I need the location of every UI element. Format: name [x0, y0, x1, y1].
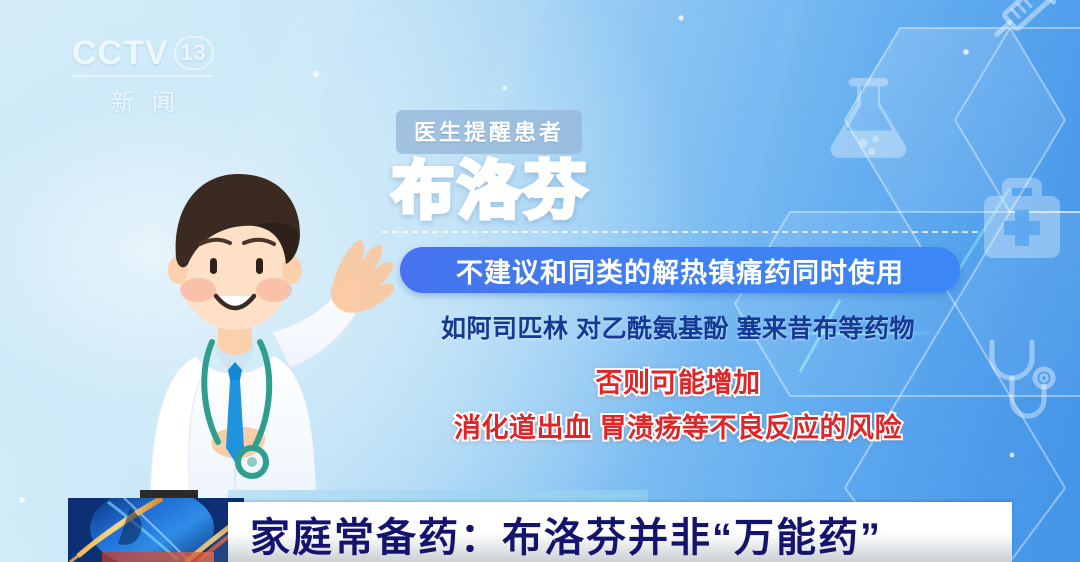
advice-banner-text: 不建议和同类的解热镇痛药同时使用: [456, 251, 904, 290]
logo-rule: [72, 75, 214, 77]
warning-line-2: 消化道出血 胃溃疡等不良反应的风险: [378, 406, 978, 445]
lower-third-title: 家庭常备药：布洛芬并非“万能药”: [250, 505, 882, 562]
broadcast-frame: CCTV 13 新闻: [0, 0, 1080, 562]
lower-third: 家庭常备药：布洛芬并非“万能药”: [0, 490, 1080, 562]
doctor-reminder-tag: 医生提醒患者: [396, 110, 582, 154]
logo-subtitle: 新闻: [72, 83, 232, 117]
stethoscope-icon: [992, 342, 1053, 416]
channel-logo: CCTV 13 新闻: [72, 36, 232, 122]
syringe-icon: [987, 0, 1070, 45]
content-block: 医生提醒患者 布洛芬 不建议和同类的解热镇痛药同时使用 如阿司匹林 对乙酰氨基酚…: [378, 110, 978, 445]
dashed-divider: [382, 231, 978, 233]
doctor-illustration: [104, 118, 394, 498]
advice-banner: 不建议和同类的解热镇痛药同时使用: [400, 247, 960, 293]
drug-headline: 布洛芬: [392, 160, 978, 223]
medical-bag-icon: [984, 178, 1060, 258]
news-globe-graphic: [68, 498, 244, 562]
warning-block: 否则可能增加 消化道出血 胃溃疡等不良反应的风险: [378, 361, 978, 445]
logo-text: CCTV: [72, 36, 169, 70]
warning-line-1: 否则可能增加: [596, 368, 761, 398]
drug-examples-line: 如阿司匹林 对乙酰氨基酚 塞来昔布等药物: [378, 309, 978, 345]
lower-third-light-strip: [228, 490, 648, 502]
logo-channel-number: 13: [174, 36, 214, 70]
lower-third-bar: 家庭常备药：布洛芬并非“万能药”: [228, 502, 1012, 562]
